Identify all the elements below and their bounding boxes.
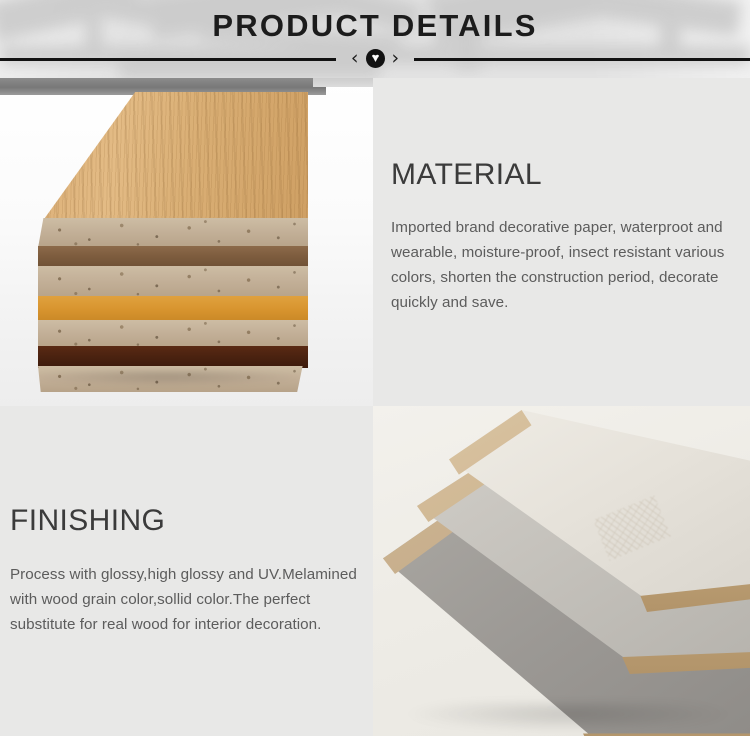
board-stack-shadow <box>34 370 299 386</box>
material-heading: MATERIAL <box>391 158 732 192</box>
board-stack <box>38 92 308 358</box>
stacked-melamine-boards-photo <box>0 78 373 406</box>
chevron-left-icon: ‹ <box>351 49 359 68</box>
finishing-text-cell: FINISHING Process with glossy,high gloss… <box>0 406 373 736</box>
material-text-cell: MATERIAL Imported brand decorative paper… <box>373 78 750 406</box>
panels-shadow <box>403 702 733 732</box>
material-description: Imported brand decorative paper, waterpr… <box>391 215 732 315</box>
content-grid: MATERIAL Imported brand decorative paper… <box>0 78 750 736</box>
chipboard-edge-1 <box>38 218 308 248</box>
page-title: PRODUCT DETAILS <box>0 9 750 43</box>
page-header-banner: PRODUCT DETAILS ‹ › <box>0 0 750 78</box>
chipboard-edge-2 <box>38 266 308 298</box>
mahogany-veneer-layer <box>38 346 308 368</box>
header-divider-rule-right <box>414 58 750 61</box>
golden-oak-veneer-layer <box>38 296 308 322</box>
walnut-veneer-layer <box>38 246 308 268</box>
fanned-particle-board-panels-photo <box>373 406 750 736</box>
finishing-description: Process with glossy,high glossy and UV.M… <box>10 562 359 637</box>
chipboard-edge-3 <box>38 320 308 348</box>
material-photo-cell <box>0 78 373 406</box>
panel-surface-texture <box>593 495 671 561</box>
header-divider-rule-left <box>0 58 336 61</box>
oak-top-face <box>38 92 308 220</box>
background-table-edge-right <box>313 78 373 87</box>
finishing-photo-cell <box>373 406 750 736</box>
product-details-page: PRODUCT DETAILS ‹ › <box>0 0 750 736</box>
heart-badge-icon <box>366 49 385 68</box>
chevron-right-icon: › <box>392 49 400 68</box>
header-ornament: ‹ › <box>336 44 414 72</box>
finishing-heading: FINISHING <box>10 504 359 538</box>
